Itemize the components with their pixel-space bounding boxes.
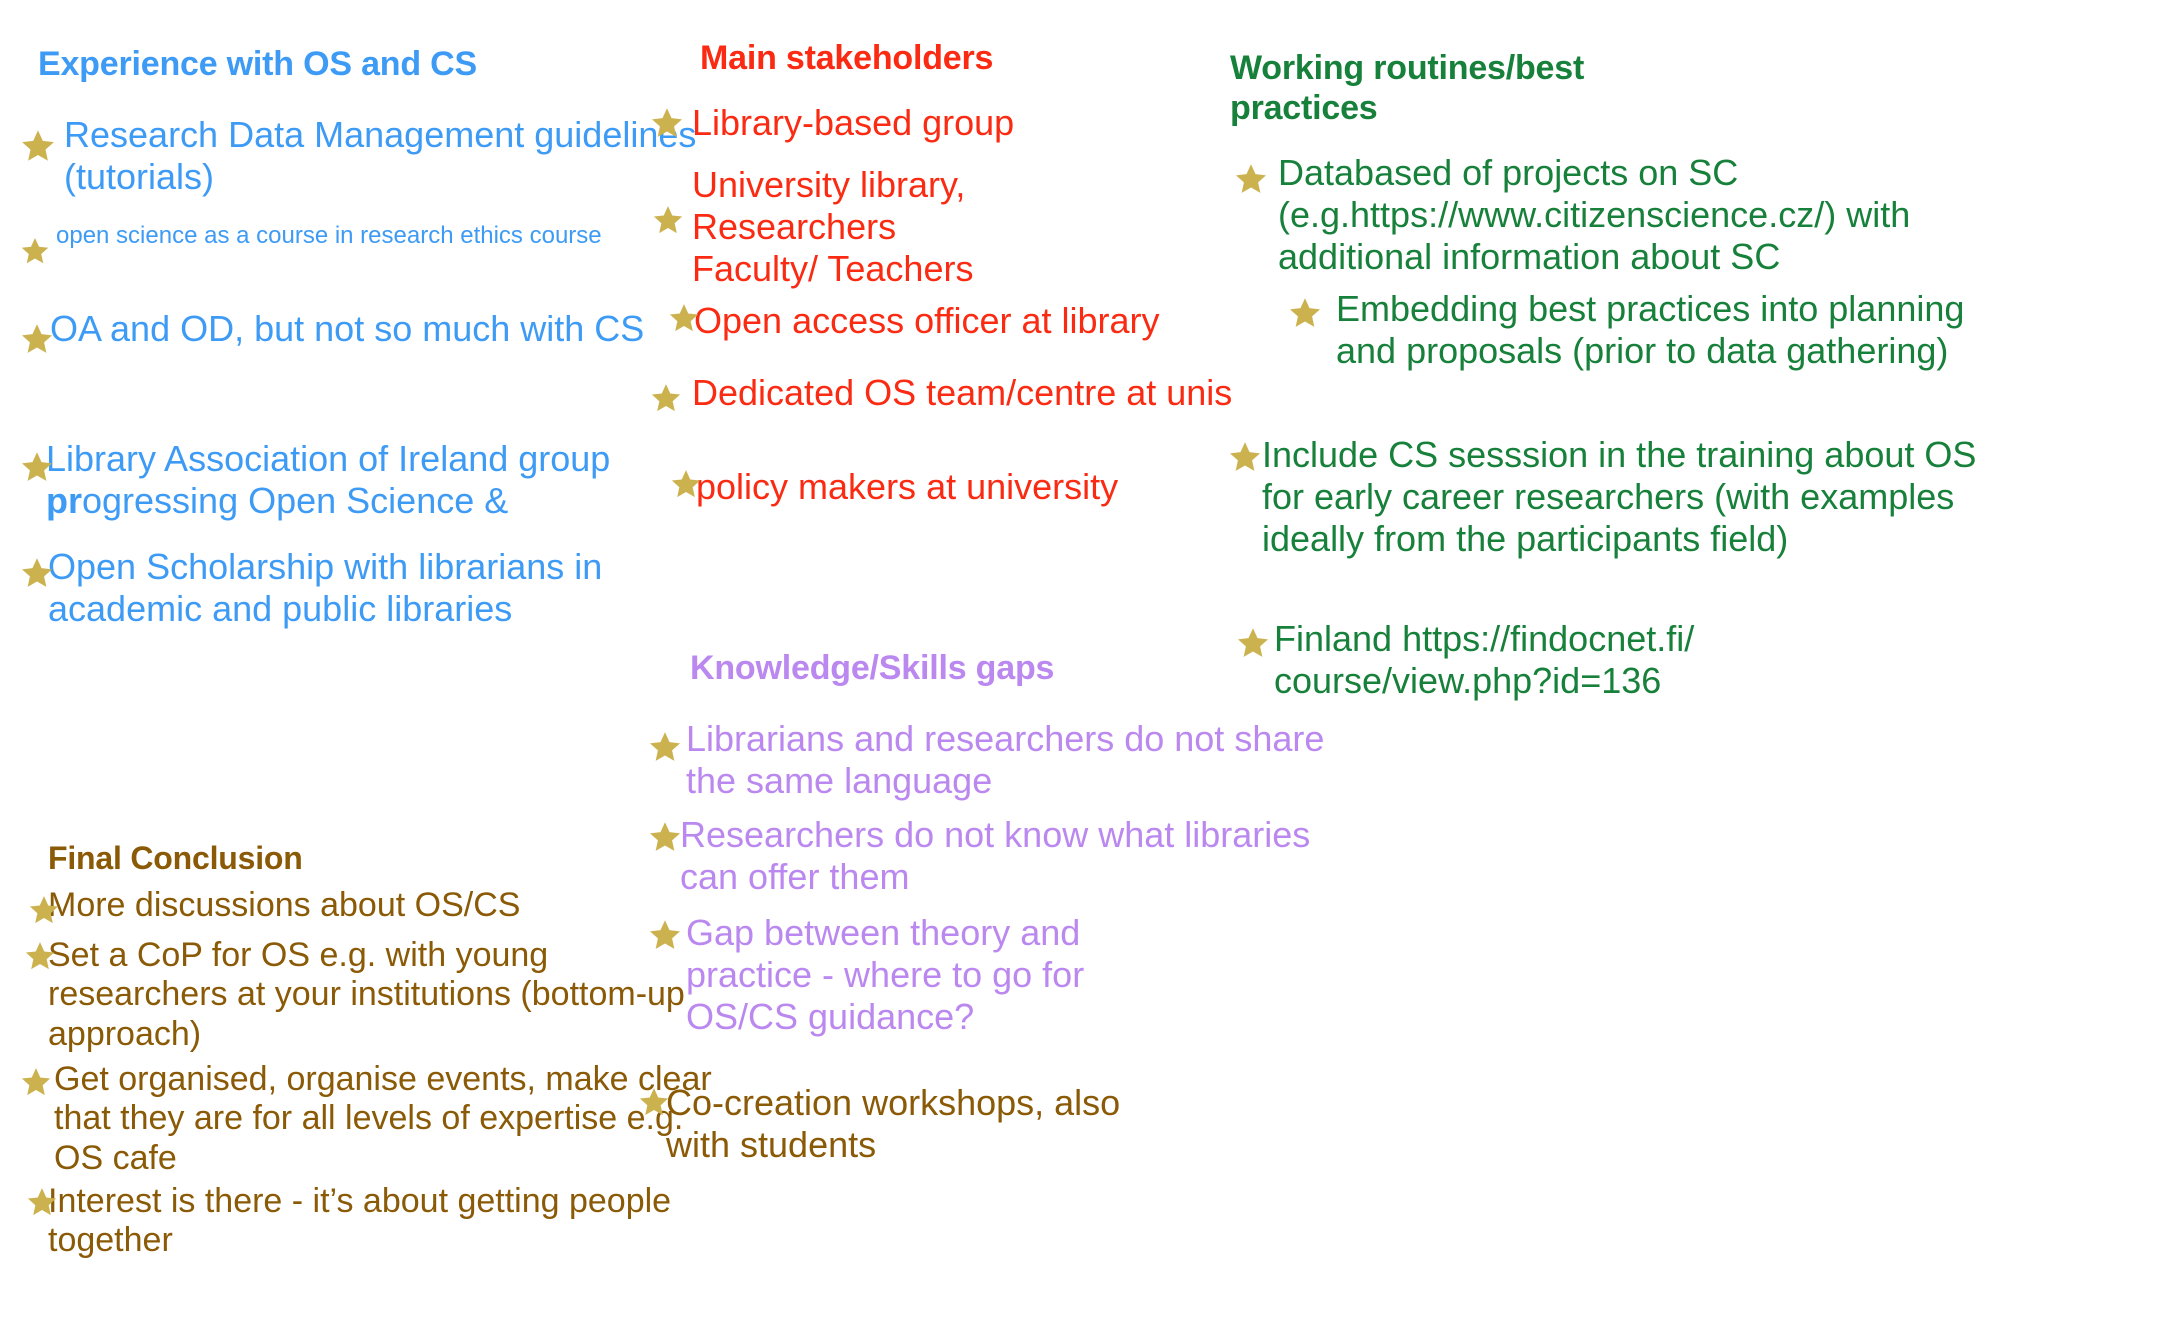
list-item-label: Interest is there - it’s about getting p… — [48, 1182, 720, 1261]
list-item: open science as a course in research eth… — [20, 220, 720, 282]
star-icon — [648, 918, 682, 952]
star-icon — [26, 1186, 58, 1218]
star-icon — [670, 468, 702, 500]
list-item-label: open science as a course in research eth… — [56, 220, 720, 251]
list-item-label: OA and OD, but not so much with CS — [50, 308, 720, 350]
list-item: Embedding best practices into planning a… — [1230, 288, 2020, 418]
star-icon — [1288, 296, 1322, 330]
list-item-label: Librarians and researchers do not share … — [686, 718, 1340, 802]
list-item-label: policy makers at university — [696, 466, 1260, 508]
list-item-label: Open access officer at library — [694, 300, 1260, 342]
column-working-routines: Working routines/best practices Database… — [1230, 48, 2020, 714]
list-item-label: More discussions about OS/CS — [48, 886, 720, 925]
list-item: Librarians and researchers do not share … — [660, 718, 1340, 808]
list-item: OA and OD, but not so much with CS — [20, 308, 720, 396]
heading-experience: Experience with OS and CS — [38, 44, 720, 84]
list-item: Open Scholarship with librarians in acad… — [20, 546, 720, 634]
list-item: University library, Researchers Faculty/… — [650, 164, 1260, 298]
list-item: Get organised, organise events, make cle… — [20, 1060, 720, 1182]
list-item-label: Library-based group — [692, 102, 1260, 144]
list-item: Co-creation workshops, also with student… — [660, 1082, 1340, 1172]
star-icon — [650, 106, 684, 140]
star-icon — [1228, 440, 1262, 474]
star-icon — [20, 322, 54, 356]
list-item: Databased of projects on SC (e.g.https:/… — [1230, 152, 2020, 282]
star-icon — [20, 236, 50, 266]
list-item-label: Finland https://findocnet.fi/ course/vie… — [1274, 618, 1774, 702]
star-icon — [20, 1066, 52, 1098]
list-item-label: Library Association of Ireland group pro… — [46, 438, 720, 522]
heading-working-routines: Working routines/best practices — [1230, 48, 1660, 128]
star-icon — [638, 1086, 670, 1118]
list-item: Research Data Management guidelines (tut… — [20, 114, 720, 202]
list-item: Researchers do not know what libraries c… — [660, 814, 1340, 904]
block-knowledge-skills-gaps: Knowledge/Skills gaps Librarians and res… — [660, 648, 1340, 1172]
star-icon — [652, 204, 684, 236]
list-item-label: Gap between theory and practice - where … — [686, 912, 1156, 1037]
list-item-label-pre: Library Association of Ireland group — [46, 438, 610, 479]
column-main-stakeholders: Main stakeholders Library-based group Un… — [650, 38, 1260, 520]
list-item: More discussions about OS/CS — [20, 886, 720, 934]
list-item-label: Co-creation workshops, also with student… — [666, 1082, 1136, 1166]
list-item: Open access officer at library — [650, 300, 1260, 354]
star-icon — [650, 382, 682, 414]
list-item: Gap between theory and practice - where … — [660, 912, 1340, 1042]
star-icon — [20, 128, 56, 164]
star-icon — [648, 820, 682, 854]
list-item: Set a CoP for OS e.g. with young researc… — [20, 936, 720, 1058]
star-icon — [20, 450, 54, 484]
star-icon — [668, 302, 700, 334]
star-icon — [28, 894, 60, 926]
star-icon — [648, 730, 682, 764]
list-item-label: Dedicated OS team/centre at unis — [692, 372, 1260, 414]
heading-main-stakeholders: Main stakeholders — [700, 38, 1260, 78]
star-icon — [24, 940, 56, 972]
list-item-label: Get organised, organise events, make cle… — [54, 1060, 720, 1178]
column-experience: Experience with OS and CS Research Data … — [20, 44, 720, 634]
list-item-label: Embedding best practices into planning a… — [1336, 288, 2020, 372]
list-item-label: Open Scholarship with librarians in acad… — [48, 546, 720, 630]
heading-final-conclusion: Final Conclusion — [48, 840, 720, 878]
list-item-label-bold: pr — [46, 480, 82, 521]
list-item: Include CS sesssion in the training abou… — [1230, 434, 2020, 604]
list-item: Finland https://findocnet.fi/ course/vie… — [1230, 618, 2020, 714]
list-item-label: Researchers do not know what libraries c… — [680, 814, 1340, 898]
star-icon — [1236, 626, 1270, 660]
list-item-label: Set a CoP for OS e.g. with young researc… — [48, 936, 720, 1054]
block-final-conclusion: Final Conclusion More discussions about … — [20, 840, 720, 1272]
list-item: policy makers at university — [650, 466, 1260, 520]
list-item-label: Include CS sesssion in the training abou… — [1262, 434, 2020, 559]
list-item: Dedicated OS team/centre at unis — [650, 372, 1260, 464]
star-icon — [1234, 162, 1268, 196]
list-item-label: Databased of projects on SC (e.g.https:/… — [1278, 152, 2020, 277]
list-item-label: University library, Researchers Faculty/… — [692, 164, 1022, 289]
list-item: Library-based group — [650, 102, 1260, 154]
list-item-label: Research Data Management guidelines (tut… — [64, 114, 720, 198]
star-icon — [20, 556, 54, 590]
list-item: Interest is there - it’s about getting p… — [20, 1182, 720, 1272]
list-item-label-post: ogressing Open Science & — [82, 480, 508, 521]
list-item: Library Association of Ireland group pro… — [20, 438, 720, 526]
